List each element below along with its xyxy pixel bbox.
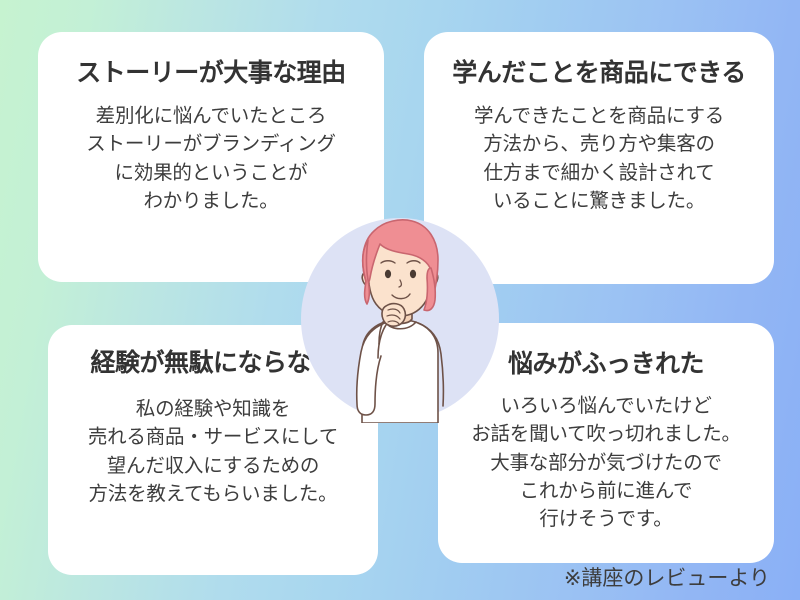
card-title-product: 学んだことを商品にできる: [452, 58, 746, 88]
card-title-worry: 悩みがふっきれた: [508, 349, 704, 379]
card-title-story: ストーリーが大事な理由: [76, 58, 346, 88]
card-body-product: 学んできたことを商品にする 方法から、売り方や集客の 仕方まで細かく設計されて …: [474, 102, 724, 215]
card-body-story: 差別化に悩んでいたところ ストーリーがブランディング に効果的ということが わか…: [86, 102, 336, 215]
card-title-experience: 経験が無駄にならない: [90, 348, 335, 378]
thinking-woman-icon: [300, 218, 500, 423]
source-note: ※講座のレビューより: [564, 562, 770, 592]
poster-canvas: ストーリーが大事な理由 差別化に悩んでいたところ ストーリーがブランディング に…: [0, 0, 800, 600]
card-body-worry: いろいろ悩んでいたけど お話を聞いて吹っ切れました。 大事な部分が気づけたので …: [471, 392, 741, 533]
